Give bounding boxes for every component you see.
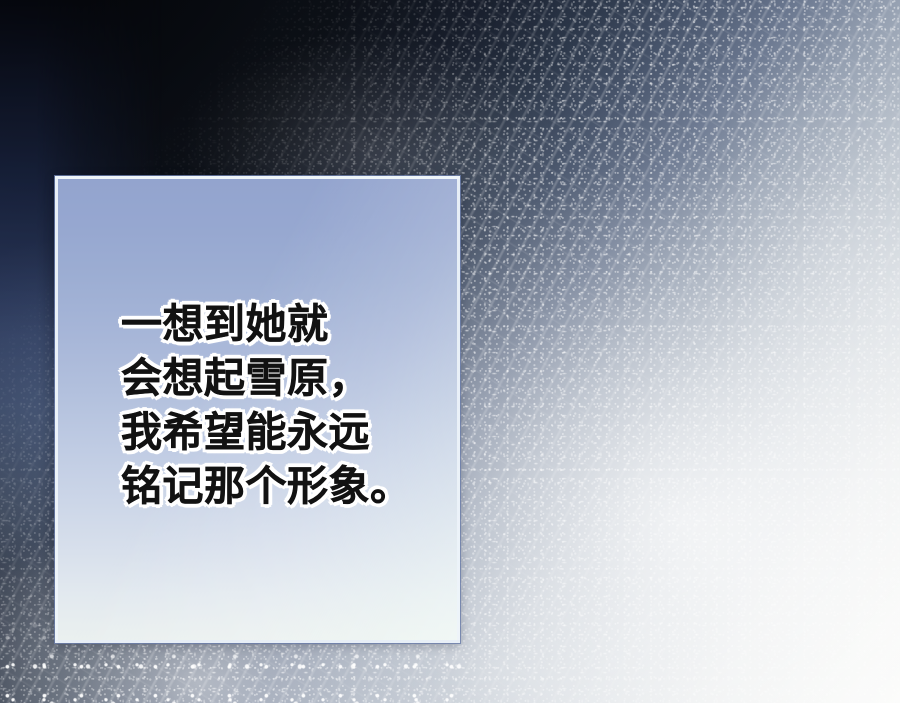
narration-caption-box: 一想到她就 会想起雪原， 我希望能永远 铭记那个形象。 [55, 176, 460, 643]
narration-text: 一想到她就 会想起雪原， 我希望能永远 铭记那个形象。 [121, 297, 412, 513]
comic-panel: 一想到她就 会想起雪原， 我希望能永远 铭记那个形象。 [0, 0, 900, 703]
